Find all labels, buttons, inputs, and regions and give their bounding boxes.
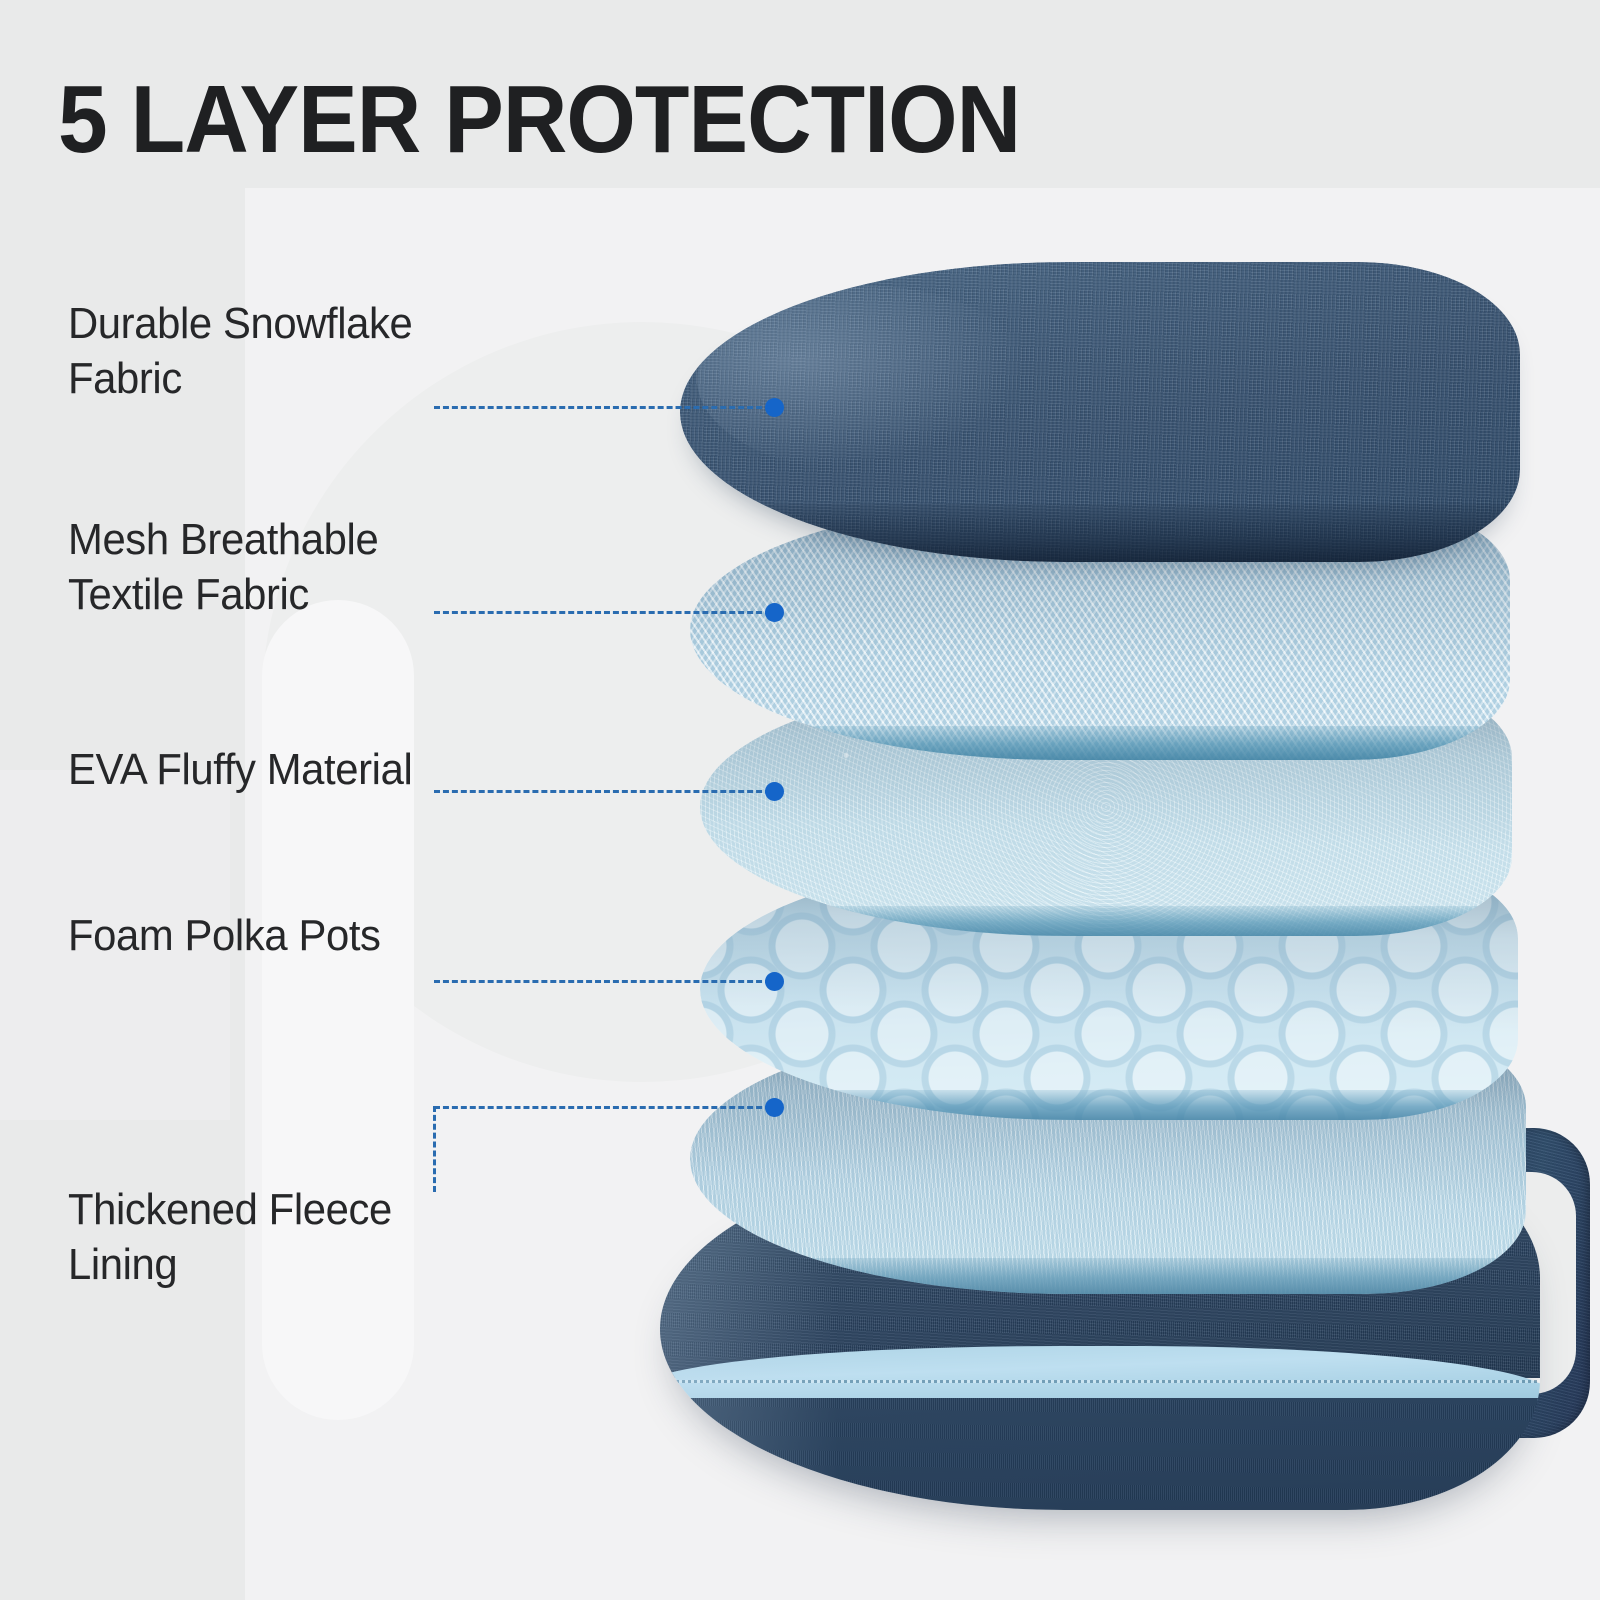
leader-dot-layer-1 — [765, 398, 784, 417]
layer-label-1: Durable Snowflake Fabric — [68, 296, 412, 406]
layer-2-rim — [690, 726, 1510, 760]
layer-4-rim — [700, 1090, 1518, 1120]
leader-line-layer-1 — [434, 406, 784, 409]
leader-dot-layer-3 — [765, 782, 784, 801]
layer-5-rim — [690, 1258, 1526, 1294]
layer-1-highlight — [697, 286, 1033, 472]
layer-1-rim — [680, 504, 1520, 562]
leader-line-layer-2 — [434, 611, 784, 614]
cushion-layer-1-snowflake-fabric — [680, 262, 1520, 562]
leader-line-layer-5-elbow — [433, 1106, 436, 1192]
layer-3-rim — [700, 906, 1512, 936]
layer-label-2: Mesh Breathable Textile Fabric — [68, 512, 378, 622]
leader-line-layer-5 — [434, 1106, 784, 1109]
exploded-cushion-stack — [0, 0, 1600, 1600]
layer-label-5: Thickened Fleece Lining — [68, 1182, 392, 1292]
layer-label-4: Foam Polka Pots — [68, 908, 381, 963]
leader-line-layer-4 — [434, 980, 784, 983]
layer-label-3: EVA Fluffy Material — [68, 742, 412, 797]
leader-line-layer-3 — [434, 790, 784, 793]
leader-dot-layer-5 — [765, 1098, 784, 1117]
leader-dot-layer-2 — [765, 603, 784, 622]
leader-dot-layer-4 — [765, 972, 784, 991]
